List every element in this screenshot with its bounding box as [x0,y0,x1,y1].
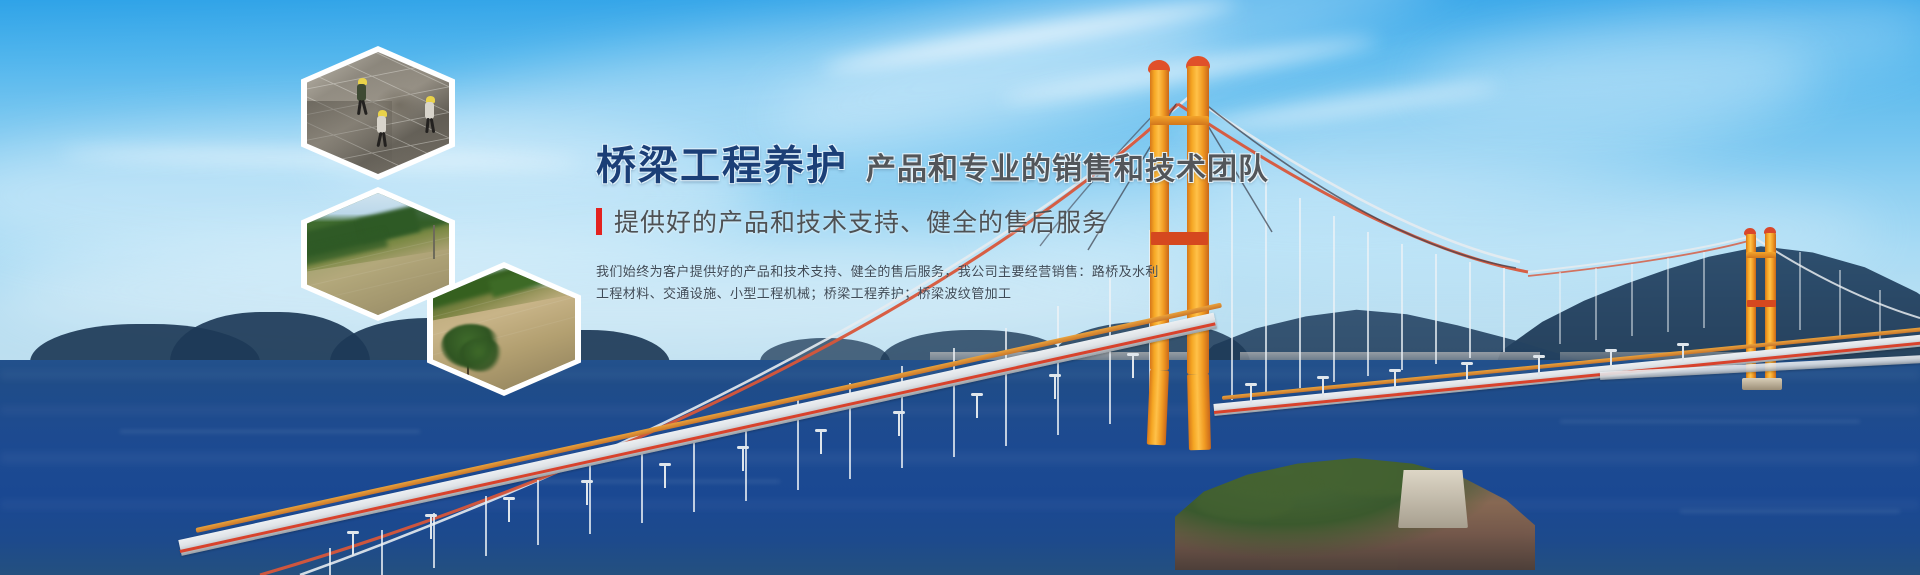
subtitle-row: 提供好的产品和技术支持、健全的售后服务 [596,203,1296,239]
street-lamp [1054,377,1056,399]
street-lamp [1132,356,1134,378]
street-lamp [1394,372,1396,390]
street-lamp [976,396,978,418]
street-lamp [1466,365,1468,383]
street-lamp [820,432,822,454]
street-lamp [1250,386,1252,404]
street-lamp [430,517,432,539]
street-lamp [1682,346,1684,362]
street-lamp [664,466,666,488]
banner-text-block: 桥梁工程养护 产品和专业的销售和技术团队 提供好的产品和技术支持、健全的售后服务… [596,146,1296,305]
street-lamp [742,449,744,471]
street-lamp [898,414,900,436]
headline-sub: 产品和专业的销售和技术团队 [866,155,1269,185]
utility-pole [433,225,435,259]
accent-bar [596,208,602,235]
street-lamp [1538,358,1540,376]
description-line-1: 我们始终为客户提供好的产品和技术支持、健全的售后服务，我公司主要经营销售：路桥及… [596,261,1156,283]
tower-foundation [1398,470,1468,528]
tower-crossbeam [1150,116,1209,125]
headline-row: 桥梁工程养护 产品和专业的销售和技术团队 [596,146,1296,186]
hero-banner: 桥梁工程养护 产品和专业的销售和技术团队 提供好的产品和技术支持、健全的售后服务… [0,0,1920,575]
headline-main: 桥梁工程养护 [596,146,848,186]
street-lamp [1610,352,1612,368]
tower-sign-plate [1747,300,1776,307]
street-lamp [1322,379,1324,397]
photo-rock-slope-mesh [307,52,449,174]
photo-slope-vegetation [433,268,575,390]
shrub [459,338,503,372]
tower-crossbeam [1746,252,1776,258]
description-paragraph: 我们始终为客户提供好的产品和技术支持、健全的售后服务，我公司主要经营销售：路桥及… [596,261,1156,305]
description-line-2: 工程材料、交通设施、小型工程机械；桥梁工程养护；桥梁波纹管加工 [596,283,1156,305]
tower-leg-right-lower [1187,374,1211,451]
island-vegetation [1195,484,1295,520]
street-lamp [586,483,588,505]
tower-leg-left-lower [1147,370,1169,446]
street-lamp [508,500,510,522]
street-lamp [352,534,354,556]
subtitle-text: 提供好的产品和技术支持、健全的售后服务 [614,203,1108,239]
tower-pier [1742,378,1782,390]
